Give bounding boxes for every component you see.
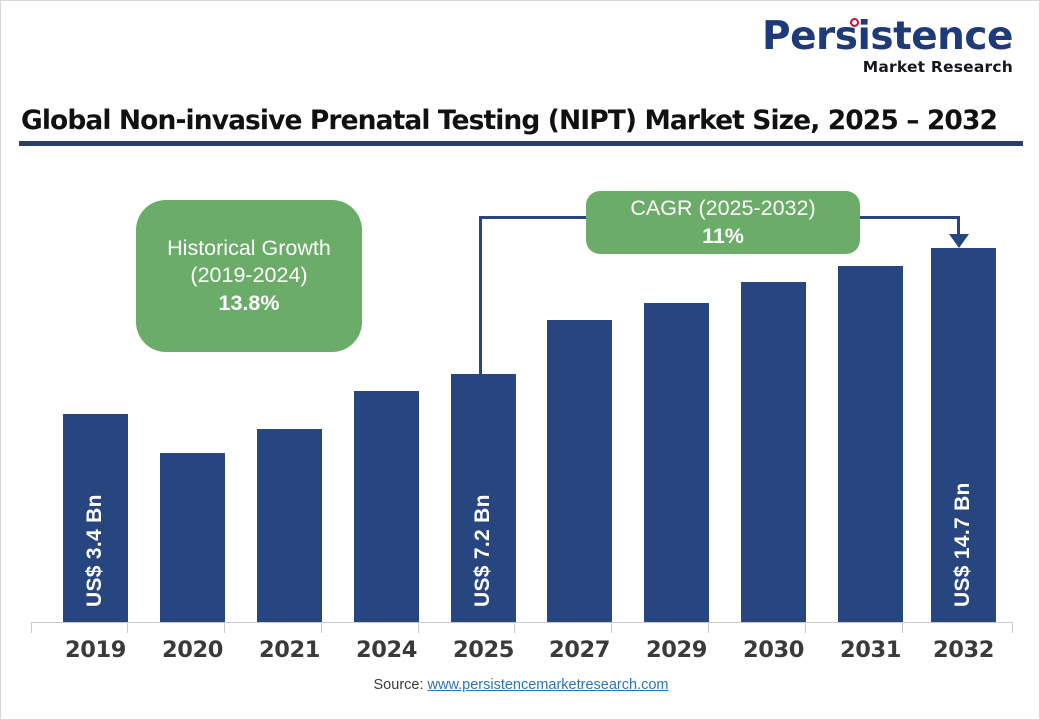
cagr-arrow-icon: [949, 234, 969, 248]
axis-tick-6: [611, 622, 612, 633]
axis-tick-8: [805, 622, 806, 633]
bar-value-label-2025: US$ 7.2 Bn: [471, 389, 495, 607]
cagr-line1: CAGR (2025-2032): [630, 195, 815, 223]
category-label-2019: 2019: [51, 637, 141, 663]
historical-growth-line1: Historical Growth: [167, 235, 331, 263]
axis-tick-7: [708, 622, 709, 633]
cagr-callout: CAGR (2025-2032) 11%: [586, 191, 860, 254]
category-label-2029: 2029: [632, 637, 722, 663]
historical-growth-line2: (2019-2024): [190, 262, 307, 290]
chart-card: Persistence Market Research Global Non-i…: [0, 0, 1040, 720]
category-label-2021: 2021: [245, 637, 335, 663]
category-label-2032: 2032: [919, 637, 1009, 663]
bar-2029: [644, 303, 709, 622]
historical-growth-value: 13.8%: [219, 290, 280, 318]
category-label-2030: 2030: [729, 637, 819, 663]
plot-area: US$ 3.4 BnUS$ 7.2 BnUS$ 14.7 Bn 20192020…: [1, 1, 1040, 720]
bar-2031: [838, 266, 903, 622]
category-label-2027: 2027: [535, 637, 625, 663]
bar-2024: [354, 391, 419, 622]
category-label-2020: 2020: [148, 637, 238, 663]
cagr-value: 11%: [702, 223, 744, 251]
source-link[interactable]: www.persistencemarketresearch.com: [428, 677, 669, 693]
axis-tick-3: [321, 622, 322, 633]
bar-value-label-2019: US$ 3.4 Bn: [83, 429, 107, 607]
source-line: Source: www.persistencemarketresearch.co…: [1, 677, 1040, 693]
axis-tick-4: [418, 622, 419, 633]
bar-2030: [741, 282, 806, 622]
axis-tick-0: [31, 622, 32, 633]
axis-tick-9: [902, 622, 903, 633]
axis-tick-2: [224, 622, 225, 633]
bar-2020: [160, 453, 225, 622]
bar-value-label-2032: US$ 14.7 Bn: [951, 263, 975, 607]
category-label-2024: 2024: [342, 637, 432, 663]
bar-2027: [547, 320, 612, 622]
cagr-connector-left: [479, 216, 482, 376]
axis-tick-5: [514, 622, 515, 633]
axis-tick-1: [127, 622, 128, 633]
axis-tick-10: [1012, 622, 1013, 633]
category-label-2025: 2025: [439, 637, 529, 663]
historical-growth-callout: Historical Growth (2019-2024) 13.8%: [136, 200, 362, 352]
category-label-2031: 2031: [826, 637, 916, 663]
bar-2021: [257, 429, 322, 622]
source-prefix: Source:: [374, 677, 428, 693]
axis-baseline: [31, 622, 1013, 623]
